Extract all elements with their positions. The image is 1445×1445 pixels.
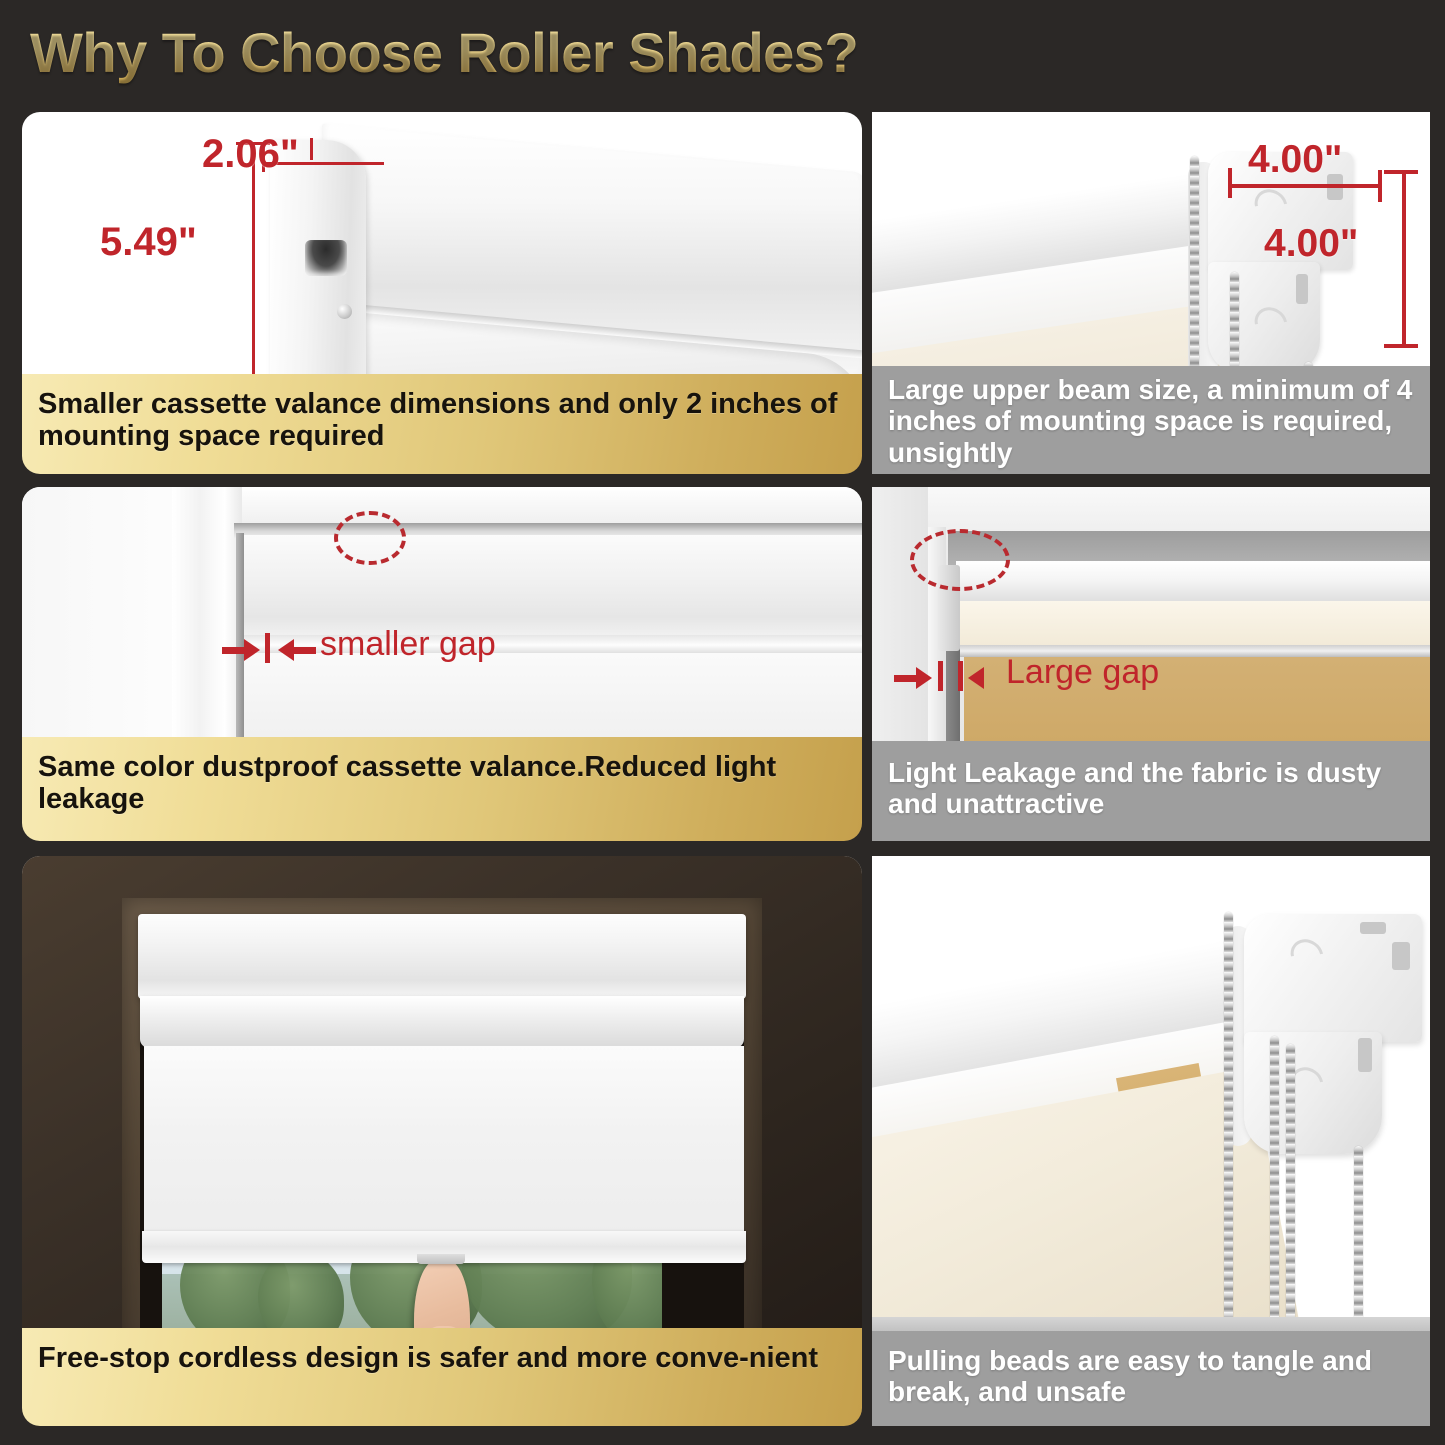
width-dimension-tick-right: [1378, 170, 1382, 202]
panel-top-right[interactable]: 4.00" 4.00" Large upper beam size, a min…: [872, 112, 1430, 474]
photo-cordless-shade-in-room: [22, 856, 862, 1328]
caption-middle-right: Light Leakage and the fabric is dusty an…: [872, 741, 1430, 841]
height-dimension-tick-bottom: [1384, 344, 1418, 348]
bead-chain: [1224, 912, 1233, 1331]
gap-arrow-left-head: [244, 639, 260, 661]
caption-top-left: Smaller cassette valance dimensions and …: [22, 374, 862, 474]
bead-chain-3: [1286, 1044, 1295, 1331]
bead-chain-2: [1230, 272, 1239, 366]
highlight-circle-cassette-top: [334, 511, 406, 565]
gap-arrow-left-shaft: [222, 647, 246, 654]
panel-bottom-left[interactable]: Free-stop cordless design is safer and m…: [22, 856, 862, 1426]
gap-arrow-right-head: [278, 639, 294, 661]
gap-arrow-right-shaft: [294, 647, 316, 654]
gap-callout-label: smaller gap: [320, 625, 496, 664]
panel-top-left[interactable]: 5.49" 2.06" Smaller cassette valance dim…: [22, 112, 862, 474]
width-dimension-label: 4.00": [1248, 138, 1342, 182]
logo-swirl-icon: [1290, 940, 1324, 970]
gap-arrow-left-head: [916, 667, 932, 689]
width-dimension-tick-left: [1228, 168, 1232, 198]
gap-callout-label: Large gap: [1006, 653, 1159, 692]
pull-tab[interactable]: [417, 1254, 465, 1264]
photo-exposed-roller-beam: 4.00" 4.00": [872, 112, 1430, 366]
photo-cassette-valance-dimensions: 5.49" 2.06": [22, 112, 862, 374]
logo-swirl-icon: [1254, 190, 1288, 220]
bead-chain: [1190, 156, 1199, 366]
gap-marker-left: [938, 661, 943, 691]
width-dimension-tick-right: [310, 138, 313, 160]
panel-middle-left[interactable]: smaller gap Same color dustproof cassett…: [22, 487, 862, 841]
panel-middle-right[interactable]: Large gap Light Leakage and the fabric i…: [872, 487, 1430, 841]
photo-dustproof-cassette-small-gap: smaller gap: [22, 487, 862, 737]
caption-top-right: Large upper beam size, a minimum of 4 in…: [872, 366, 1430, 474]
bead-chain-4: [1354, 1146, 1363, 1331]
photo-bead-chain-roller: [872, 856, 1430, 1331]
gap-marker-right: [958, 661, 963, 691]
caption-bottom-left: Free-stop cordless design is safer and m…: [22, 1328, 862, 1426]
gap-marker: [265, 633, 270, 663]
gap-arrow-left-shaft: [894, 675, 918, 682]
highlight-circle-gap: [910, 529, 1010, 591]
comparison-grid: 5.49" 2.06" Smaller cassette valance dim…: [0, 0, 1445, 1445]
panel-bottom-right[interactable]: Pulling beads are easy to tangle and bre…: [872, 856, 1430, 1426]
height-dimension-tick-top: [1384, 170, 1418, 174]
width-dimension-line: [1228, 184, 1380, 188]
logo-swirl-icon-lower: [1290, 1068, 1324, 1098]
height-dimension-line: [1402, 170, 1406, 348]
height-dimension-label: 5.49": [100, 220, 197, 265]
gap-arrow-right-head: [968, 667, 984, 689]
logo-swirl-icon-lower: [1254, 308, 1288, 338]
height-dimension-label: 4.00": [1264, 222, 1358, 266]
width-dimension-label: 2.06": [202, 132, 299, 177]
photo-light-leakage-large-gap: Large gap: [872, 487, 1430, 741]
bead-chain-2: [1270, 1036, 1279, 1331]
caption-bottom-right: Pulling beads are easy to tangle and bre…: [872, 1331, 1430, 1426]
caption-middle-left: Same color dustproof cassette valance.Re…: [22, 737, 862, 841]
